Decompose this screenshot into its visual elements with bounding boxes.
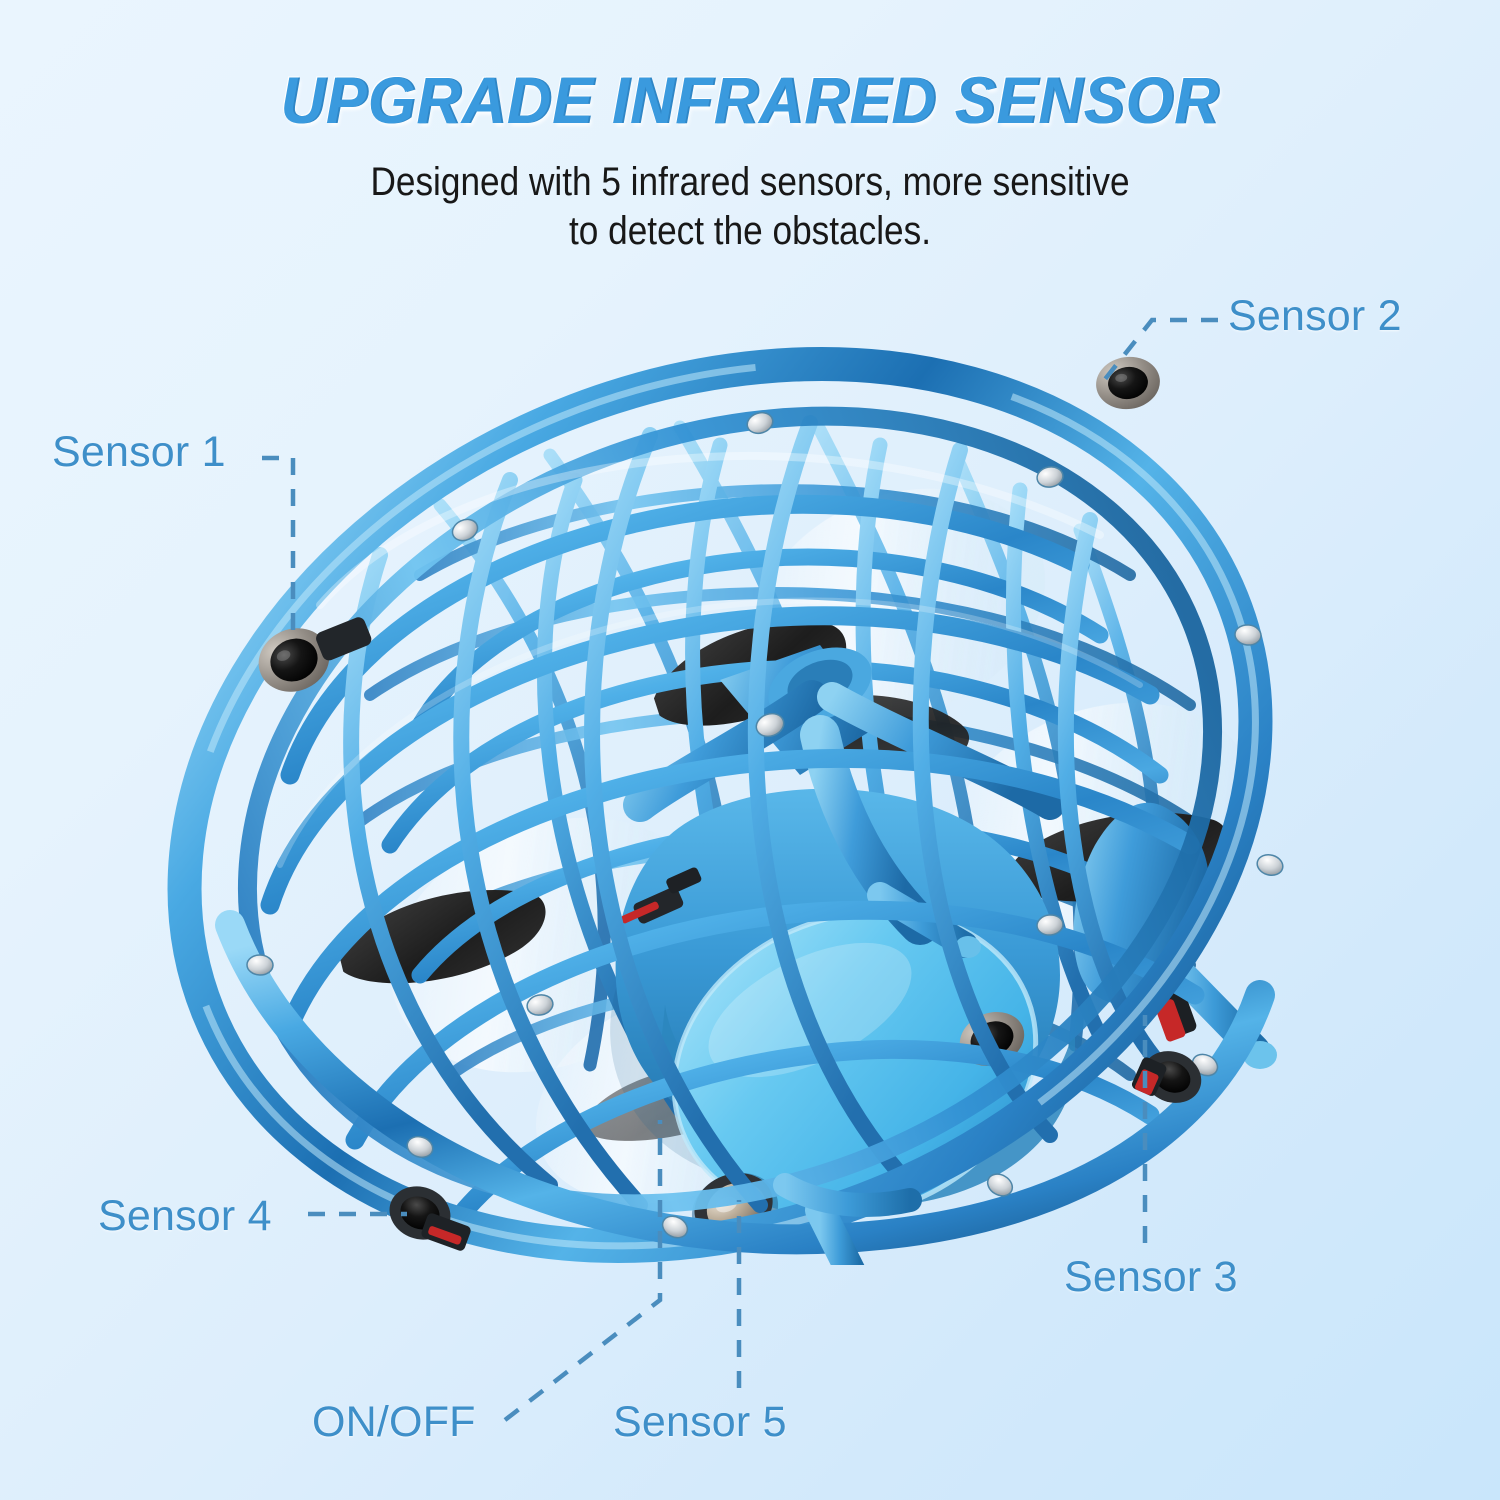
callout-label-sensor-3: Sensor 3 <box>1064 1253 1238 1302</box>
callout-label-sensor-2: Sensor 2 <box>1228 292 1402 341</box>
page-title: UPGRADE INFRARED SENSOR <box>53 0 1448 138</box>
infographic-canvas: UPGRADE INFRARED SENSOR Designed with 5 … <box>0 0 1500 1500</box>
callout-label-sensor-1: Sensor 1 <box>52 428 226 477</box>
callout-label-sensor-4: Sensor 4 <box>98 1192 272 1241</box>
sensor-2-lens <box>1093 353 1164 413</box>
product-image-ufo-drone <box>120 305 1360 1265</box>
callout-label-sensor-5: Sensor 5 <box>613 1398 787 1447</box>
header-block: UPGRADE INFRARED SENSOR Designed with 5 … <box>0 0 1500 256</box>
subtitle-line-2: to detect the obstacles. <box>90 207 1410 256</box>
subtitle-line-1: Designed with 5 infrared sensors, more s… <box>90 158 1410 207</box>
page-subtitle: Designed with 5 infrared sensors, more s… <box>90 138 1410 256</box>
callout-label-on-off: ON/OFF <box>312 1398 476 1447</box>
